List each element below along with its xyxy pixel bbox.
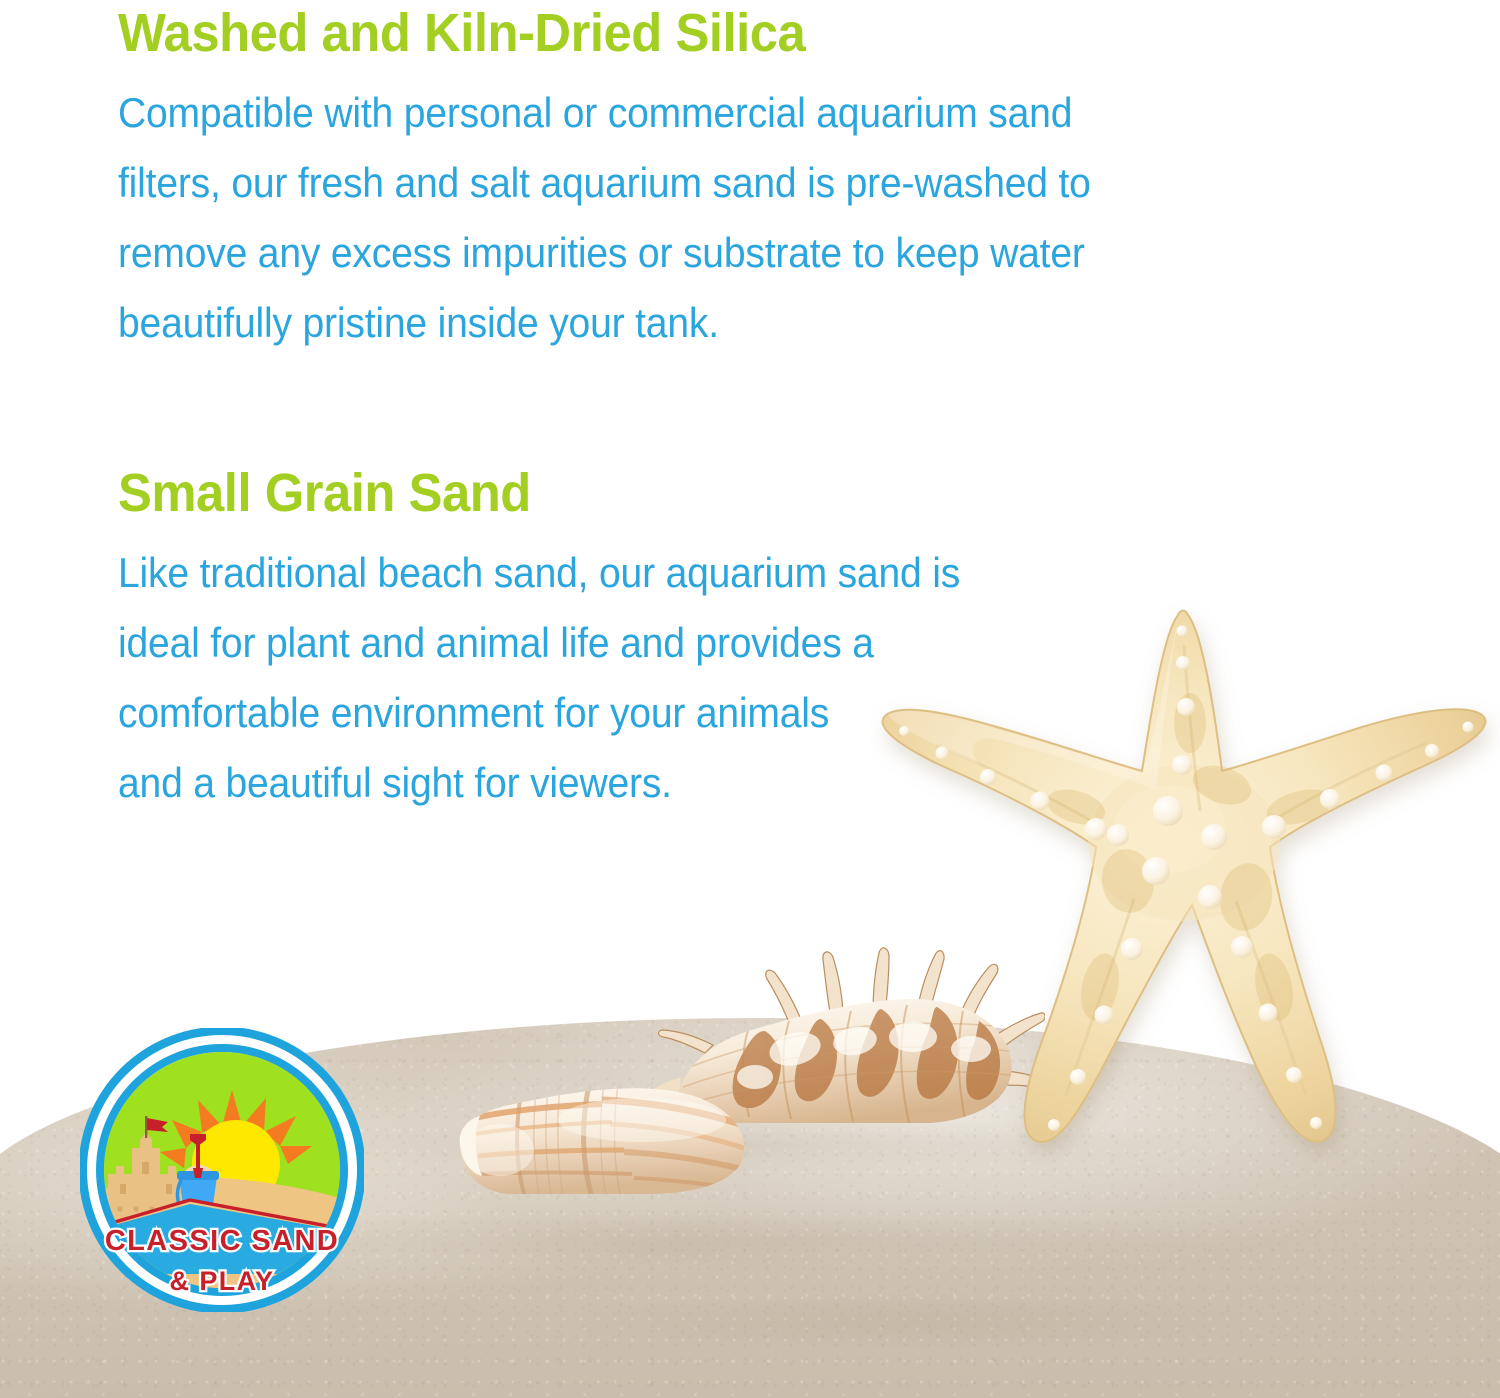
heading-small-grain-sand: Small Grain Sand xyxy=(118,462,1302,524)
logo-line1: CLASSIC SAND xyxy=(105,1225,339,1257)
marketing-copy-area: Washed and Kiln-Dried Silica Compatible … xyxy=(118,0,1378,818)
body-line: comfortable environment for your animals xyxy=(118,678,1290,748)
logo-line2: & PLAY xyxy=(170,1266,275,1296)
classic-sand-and-play-logo[interactable]: CLASSIC SAND & PLAY xyxy=(80,1028,364,1312)
body-line: beautifully pristine inside your tank. xyxy=(118,288,1290,358)
body-line: ideal for plant and animal life and prov… xyxy=(118,608,1290,678)
body-line: and a beautiful sight for viewers. xyxy=(118,748,1290,818)
heading-washed-kiln-dried-silica: Washed and Kiln-Dried Silica xyxy=(118,0,1302,64)
sand-shadow xyxy=(0,1298,460,1398)
section-spacer xyxy=(118,358,1378,462)
paragraph-washed-kiln-dried-silica: Compatible with personal or commercial a… xyxy=(118,64,1378,358)
body-line: Like traditional beach sand, our aquariu… xyxy=(118,538,1290,608)
paragraph-small-grain-sand: Like traditional beach sand, our aquariu… xyxy=(118,524,1378,818)
product-feature-image: Washed and Kiln-Dried Silica Compatible … xyxy=(0,0,1500,1398)
body-line: filters, our fresh and salt aquarium san… xyxy=(118,148,1290,218)
spiral-shell xyxy=(452,1058,752,1198)
body-line: Compatible with personal or commercial a… xyxy=(118,78,1290,148)
body-line: remove any excess impurities or substrat… xyxy=(118,218,1290,288)
